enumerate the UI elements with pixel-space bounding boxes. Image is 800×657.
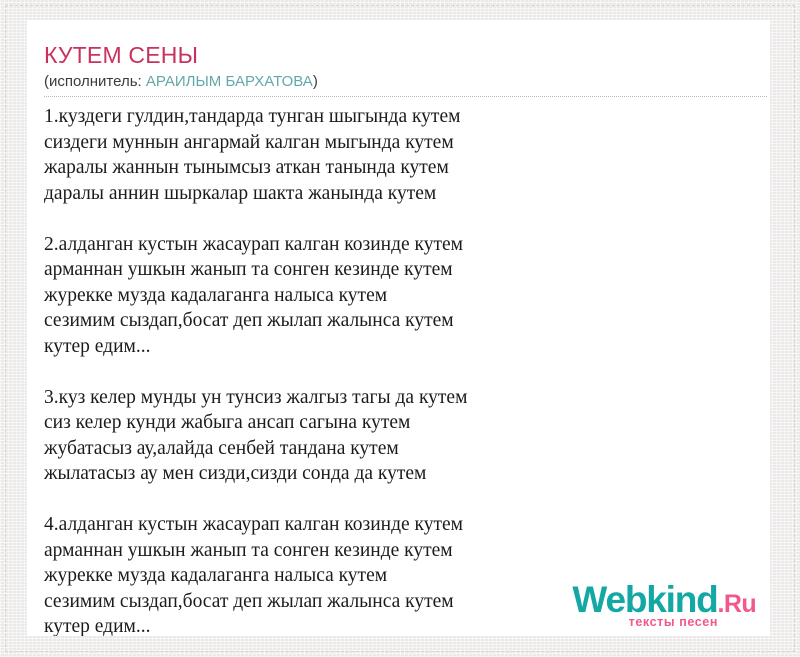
site-logo-name: Webkind (572, 579, 717, 620)
song-content-card: КУТЕМ СЕНЫ (исполнитель: АРАИЛЫМ БАРХАТО… (27, 20, 770, 636)
performer-line: (исполнитель: АРАИЛЫМ БАРХАТОВА) (44, 72, 750, 96)
performer-link[interactable]: АРАИЛЫМ БАРХАТОВА (146, 73, 313, 90)
site-logo[interactable]: Webkind.Ru тексты песен (572, 581, 756, 629)
header-divider (44, 96, 767, 97)
performer-suffix-label: ) (313, 73, 318, 90)
page-title: КУТЕМ СЕНЫ (44, 42, 750, 68)
performer-prefix-label: (исполнитель: (44, 73, 146, 90)
site-logo-tld: .Ru (718, 590, 756, 618)
card-inner: КУТЕМ СЕНЫ (исполнитель: АРАИЛЫМ БАРХАТО… (27, 20, 770, 636)
lyrics-text: 1.куздеги гулдин,тандарда тунган шыгында… (44, 104, 750, 636)
